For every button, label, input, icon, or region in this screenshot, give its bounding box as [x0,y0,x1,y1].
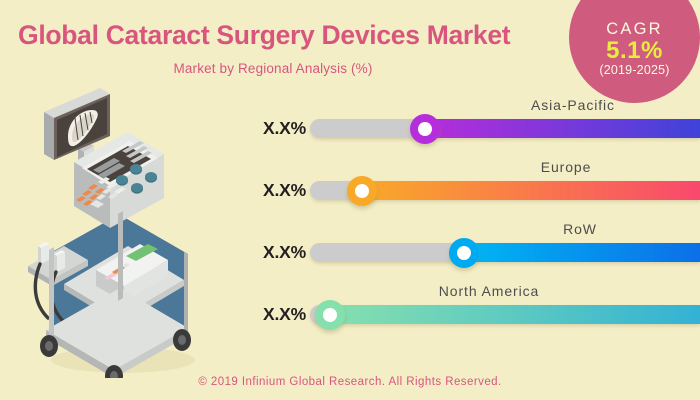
slider-knob-handle[interactable] [347,176,377,206]
slider-knob-handle[interactable] [449,238,479,268]
slider-knob-center [418,122,432,136]
slider-fill-bar[interactable] [362,181,700,200]
slider-row[interactable]: RoWX.X% [0,224,700,286]
slider-fill-bar[interactable] [330,305,700,324]
cagr-badge: CAGR 5.1% (2019-2025) [569,0,700,103]
slider-row[interactable]: Asia-PacificX.X% [0,100,700,162]
slider-fill-bar[interactable] [425,119,700,138]
cagr-value: 5.1% [606,38,663,63]
slider-region-label: North America [439,283,539,299]
regional-analysis-slider-chart: Asia-PacificX.X%EuropeX.X%RoWX.X%North A… [0,100,700,365]
slider-value-label: X.X% [248,304,306,325]
slider-knob-center [457,246,471,260]
slider-value-label: X.X% [248,118,306,139]
slider-value-label: X.X% [248,180,306,201]
slider-knob-handle[interactable] [315,300,345,330]
infographic-canvas: Global Cataract Surgery Devices Market M… [0,0,700,400]
slider-region-label: Europe [541,159,592,175]
slider-region-label: RoW [563,221,597,237]
slider-region-label: Asia-Pacific [531,97,615,113]
slider-value-label: X.X% [248,242,306,263]
footer-copyright: © 2019 Infinium Global Research. All Rig… [0,376,700,388]
slider-row[interactable]: North AmericaX.X% [0,286,700,348]
cagr-period: (2019-2025) [599,63,669,78]
cagr-label: CAGR [606,21,662,38]
page-subtitle: Market by Regional Analysis (%) [18,61,528,76]
slider-knob-center [323,308,337,322]
page-title: Global Cataract Surgery Devices Market [18,20,548,51]
slider-knob-center [355,184,369,198]
slider-fill-bar[interactable] [464,243,700,262]
slider-knob-handle[interactable] [410,114,440,144]
slider-row[interactable]: EuropeX.X% [0,162,700,224]
